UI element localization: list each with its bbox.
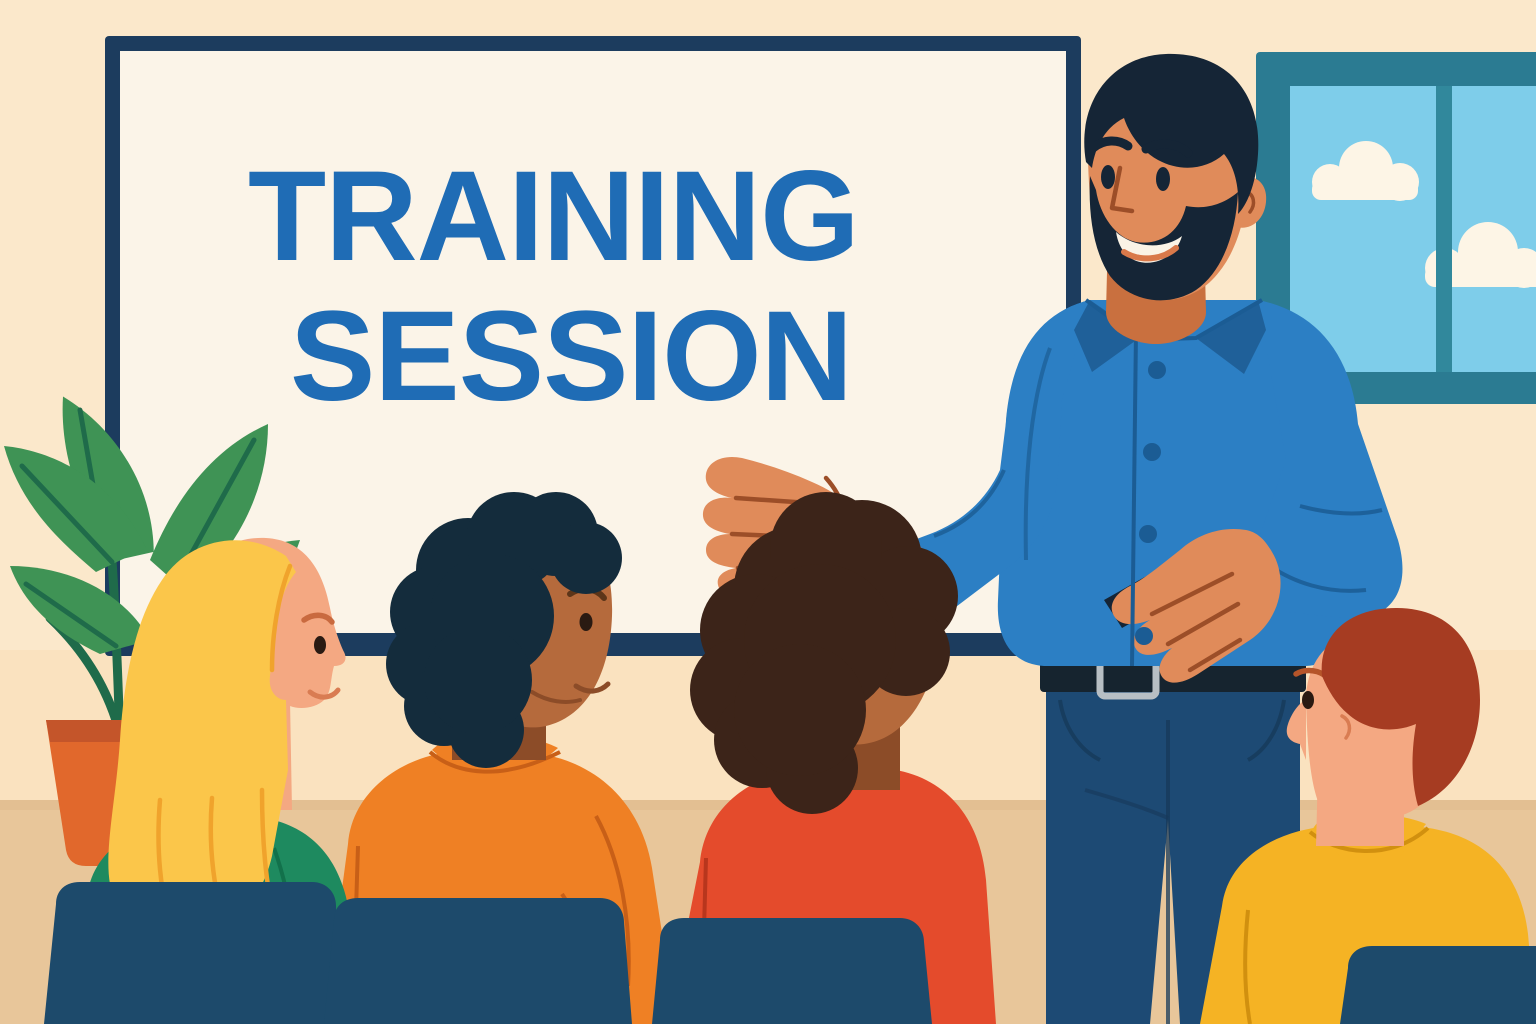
chair-back [44,882,340,1024]
presenter-eye-right [1156,167,1170,191]
chair-back [1340,946,1536,1024]
attendee4-eye [1302,691,1314,709]
chair-back [324,898,632,1024]
attendee2-eye [580,613,593,631]
whiteboard-title-line1: TRAINING [248,145,859,288]
illustration-canvas: TRAINING SESSION [0,0,1536,1024]
chair-back [652,918,932,1024]
attendee1-eye [314,636,326,654]
window-mullion-vertical [1436,86,1452,372]
scene-svg: TRAINING SESSION [0,0,1536,1024]
whiteboard-title-line2: SESSION [290,285,852,428]
presenter-eye-left [1101,165,1115,189]
